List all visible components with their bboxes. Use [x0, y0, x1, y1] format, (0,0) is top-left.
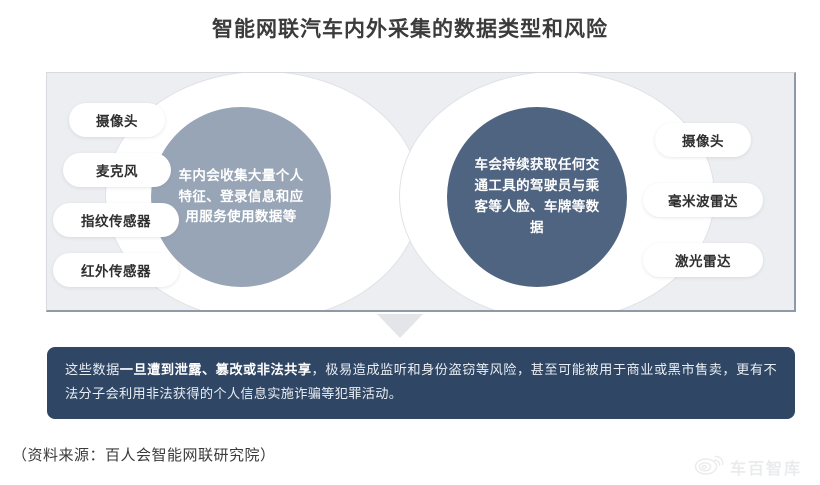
left-chip-fingerprint-sensor[interactable]: 指纹传感器 — [53, 203, 179, 237]
right-bubble: 车会持续获取任何交通工具的驾驶员与乘客等人脸、车牌等数据 — [447, 107, 627, 287]
left-chip-microphone[interactable]: 麦克风 — [63, 153, 171, 187]
right-chip-millimeter-wave-radar[interactable]: 毫米波雷达 — [643, 183, 763, 217]
infographic-root: 智能网联汽车内外采集的数据类型和风险 车内会收集大量个人特征、登录信息和应用服务… — [0, 0, 820, 485]
watermark-label: 车百智库 — [730, 455, 802, 479]
right-chip-camera[interactable]: 摄像头 — [655, 123, 751, 157]
diagram-panel: 车内会收集大量个人特征、登录信息和应用服务使用数据等 车会持续获取任何交通工具的… — [46, 72, 796, 312]
left-bubble: 车内会收集大量个人特征、登录信息和应用服务使用数据等 — [151, 107, 331, 287]
banner-lead-text: 这些数据 — [65, 362, 120, 377]
right-chip-lidar[interactable]: 激光雷达 — [643, 243, 763, 277]
page-title: 智能网联汽车内外采集的数据类型和风险 — [0, 13, 820, 43]
weibo-icon — [694, 452, 724, 481]
risk-banner: 这些数据一旦遭到泄露、篡改或非法共享，极易造成监听和身份盗窃等风险，甚至可能被用… — [47, 347, 795, 419]
left-chip-camera[interactable]: 摄像头 — [69, 103, 165, 137]
watermark: 车百智库 — [694, 452, 802, 481]
source-note: （资料来源：百人会智能网联研究院） — [12, 444, 276, 465]
down-arrow-icon — [377, 314, 423, 338]
banner-emphasis-text: 一旦遭到泄露、篡改或非法共享 — [120, 362, 312, 377]
left-chip-infrared-sensor[interactable]: 红外传感器 — [53, 253, 179, 287]
